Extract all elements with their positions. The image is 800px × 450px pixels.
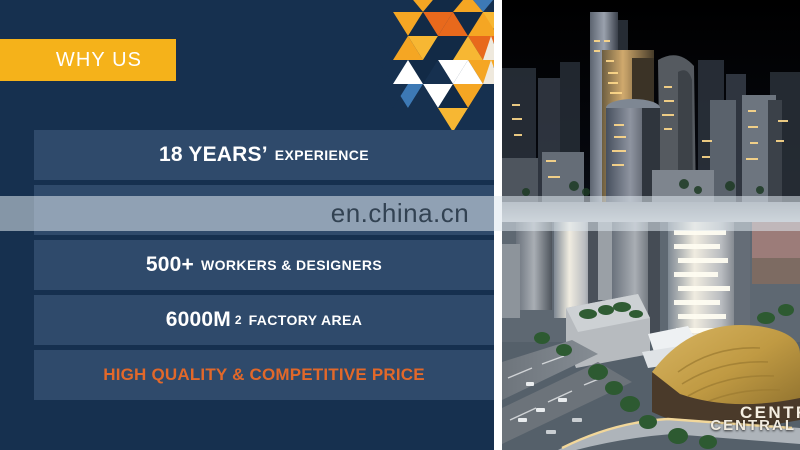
fact-value: 500+	[146, 253, 194, 277]
fact-row: 6000M 2 FACTORY AREA	[34, 295, 494, 345]
photo-caption: CENTRAL	[710, 417, 796, 434]
fact-highlight-text: HIGH QUALITY & COMPETITIVE PRICE	[103, 365, 425, 385]
fact-description: WORKERS & DESIGNERS	[201, 257, 382, 273]
fact-superscript: 2	[235, 313, 242, 327]
watermark-text: en.china.cn	[331, 198, 469, 229]
triangle-mosaic-icon	[378, 0, 497, 134]
fact-value: 6000M	[166, 308, 231, 332]
day-city-model-photo: CENTRAL	[502, 222, 800, 450]
why-us-badge: WHY US	[0, 39, 176, 81]
watermark-band: en.china.cn	[0, 196, 800, 231]
night-city-model-photo	[502, 0, 800, 222]
slide-canvas: WHY US	[0, 0, 800, 450]
why-us-label: WHY US	[34, 49, 142, 72]
fact-description: EXPERIENCE	[275, 147, 369, 163]
fact-value: 18 YEARS’	[159, 143, 268, 167]
fact-row-highlight: HIGH QUALITY & COMPETITIVE PRICE	[34, 350, 494, 400]
fact-row: 18 YEARS’ EXPERIENCE	[34, 130, 494, 180]
fact-description: FACTORY AREA	[249, 312, 363, 328]
fact-row: 500+ WORKERS & DESIGNERS	[34, 240, 494, 290]
